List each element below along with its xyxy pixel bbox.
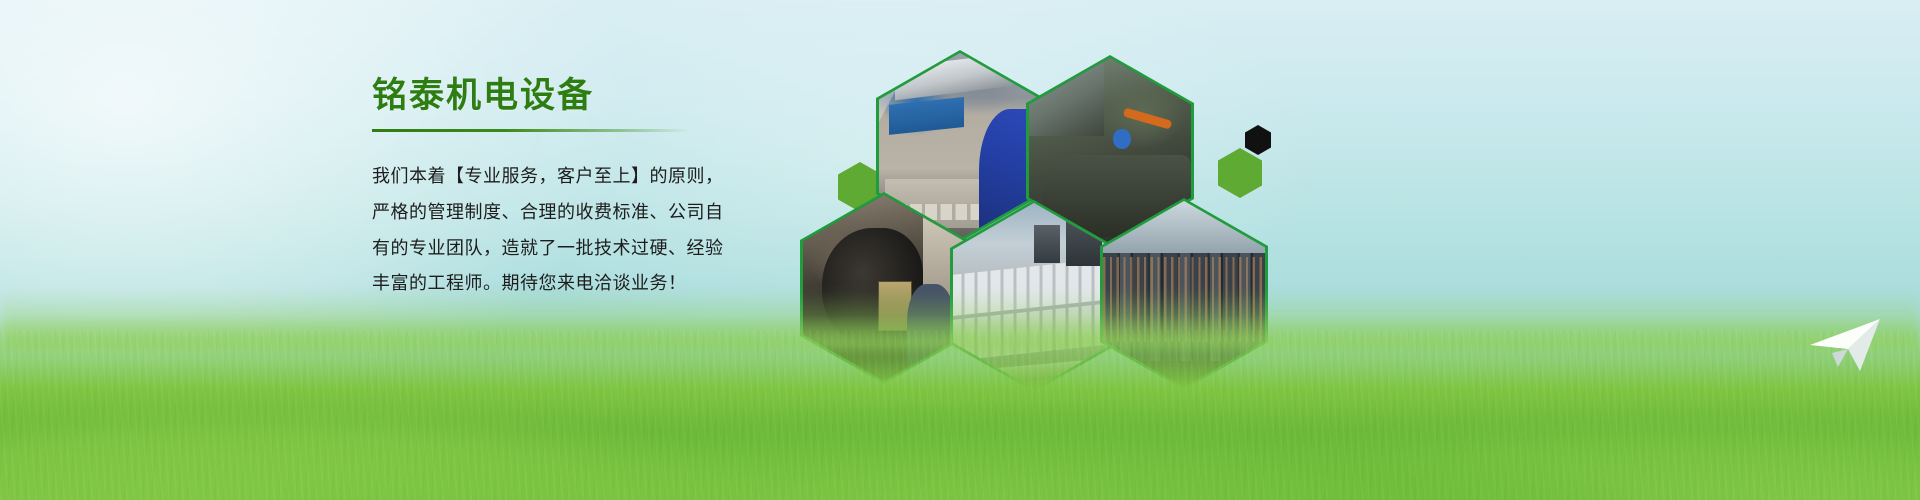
description-line-2: 严格的管理制度、合理的收费标准、公司自 [372, 200, 792, 225]
banner-description: 我们本着【专业服务，客户至上】的原则， 严格的管理制度、合理的收费标准、公司自 … [372, 164, 792, 296]
grass-texture [0, 330, 1920, 500]
page-title: 铭泰机电设备 [372, 78, 792, 113]
hero-banner: 铭泰机电设备 我们本着【专业服务，客户至上】的原则， 严格的管理制度、合理的收费… [0, 0, 1920, 500]
paper-plane-icon [1808, 315, 1882, 375]
description-line-1: 我们本着【专业服务，客户至上】的原则， [372, 164, 792, 189]
description-line-3: 有的专业团队，造就了一批技术过硬、经验 [372, 236, 792, 261]
title-underline [372, 129, 690, 132]
grass-field [0, 315, 1920, 500]
banner-copy: 铭泰机电设备 我们本着【专业服务，客户至上】的原则， 严格的管理制度、合理的收费… [372, 78, 792, 307]
